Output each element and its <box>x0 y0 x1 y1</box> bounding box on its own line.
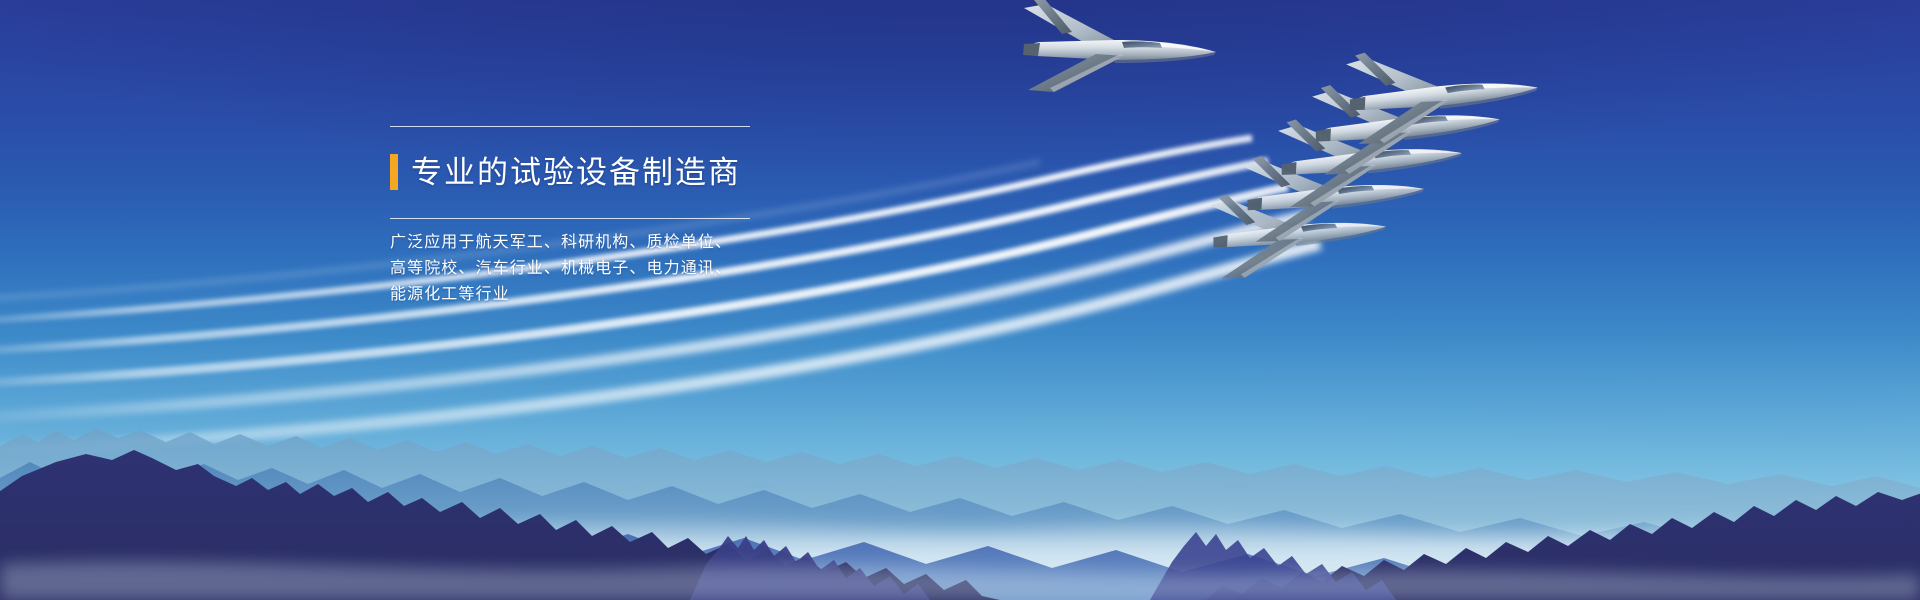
subtitle-line: 高等院校、汽车行业、机械电子、电力通讯、 <box>390 256 750 282</box>
subtitle-block: 广泛应用于航天军工、科研机构、质检单位、 高等院校、汽车行业、机械电子、电力通讯… <box>390 219 750 308</box>
sky-background <box>0 0 1920 600</box>
subtitle-line: 能源化工等行业 <box>390 282 750 308</box>
hero-copy-block: 专业的试验设备制造商 广泛应用于航天军工、科研机构、质检单位、 高等院校、汽车行… <box>390 126 750 308</box>
subtitle-line: 广泛应用于航天军工、科研机构、质检单位、 <box>390 230 750 256</box>
page-title: 专业的试验设备制造商 <box>411 157 741 188</box>
headline-row: 专业的试验设备制造商 <box>390 127 750 218</box>
accent-bar <box>390 154 398 190</box>
hero-banner: 专业的试验设备制造商 广泛应用于航天军工、科研机构、质检单位、 高等院校、汽车行… <box>0 0 1920 600</box>
